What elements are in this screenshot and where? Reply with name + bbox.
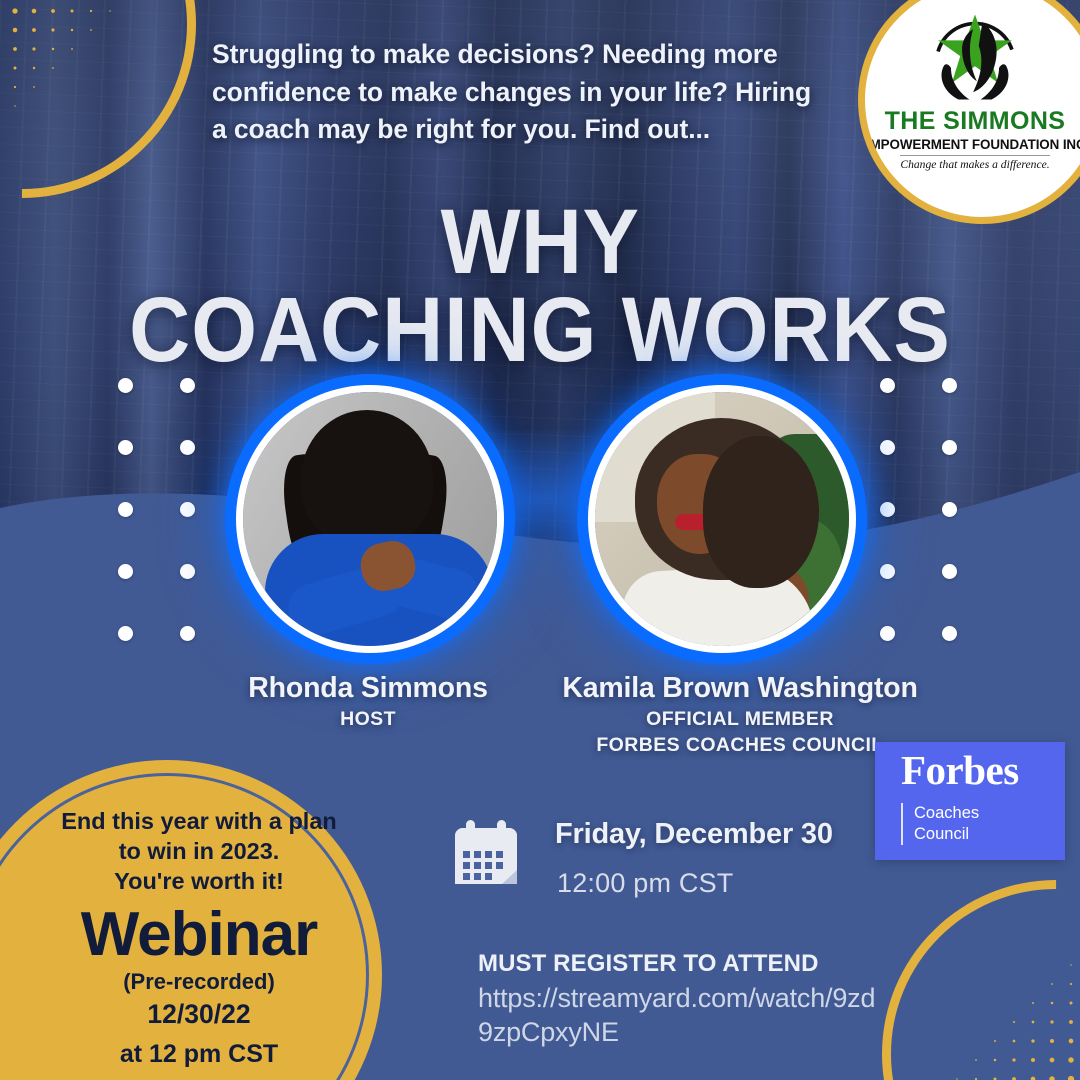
- page-title: WHY COACHING WORKS: [43, 198, 1037, 375]
- pitch-line-3: You're worth it!: [38, 866, 360, 896]
- webinar-circle-text: End this year with a plan to win in 2023…: [38, 806, 360, 1069]
- speaker-2-role-line-1: OFFICIAL MEMBER: [530, 708, 950, 731]
- webinar-format: (Pre-recorded): [38, 969, 360, 995]
- flyer-canvas: Struggling to make decisions? Needing mo…: [0, 0, 1080, 1080]
- title-line-1: WHY: [43, 198, 1037, 286]
- calendar-icon: [450, 818, 522, 890]
- logo-name-line-2: EMPOWERMENT FOUNDATION INC.: [861, 137, 1080, 152]
- forbes-wordmark: Forbes: [901, 750, 1065, 791]
- webinar-date-short: 12/30/22: [38, 999, 360, 1030]
- speaker-photo-kamila-brown-washington: [595, 392, 849, 646]
- pitch-line-2: to win in 2023.: [38, 836, 360, 866]
- speaker-block-1: Rhonda Simmons HOST: [190, 672, 546, 731]
- intro-paragraph: Struggling to make decisions? Needing mo…: [212, 36, 812, 149]
- event-date: Friday, December 30: [555, 818, 833, 851]
- webinar-time-short: at 12 pm CST: [38, 1040, 360, 1069]
- forbes-divider-rule: [901, 803, 903, 845]
- title-line-2: COACHING WORKS: [43, 286, 1037, 374]
- speaker-2-name: Kamila Brown Washington: [530, 672, 950, 705]
- registration-url[interactable]: https://streamyard.com/watch/9zd9zpCpxyN…: [478, 982, 878, 1050]
- logo-tagline: Change that makes a difference.: [900, 155, 1049, 171]
- forbes-sub-line-2: Council: [914, 824, 979, 845]
- forbes-sub-line-1: Coaches: [914, 803, 979, 824]
- pitch-line-1: End this year with a plan: [38, 806, 360, 836]
- event-time: 12:00 pm CST: [557, 868, 733, 899]
- speaker-photo-rhonda-simmons: [243, 392, 497, 646]
- webinar-heading: Webinar: [38, 902, 360, 967]
- registration-heading: MUST REGISTER TO ATTEND: [478, 950, 819, 978]
- forbes-coaches-council-badge: Forbes Coaches Council: [875, 742, 1065, 860]
- logo-name-line-1: THE SIMMONS: [885, 107, 1066, 136]
- speaker-1-role: HOST: [190, 708, 546, 731]
- speaker-1-name: Rhonda Simmons: [190, 672, 546, 705]
- star-hands-logo-icon: [919, 9, 1031, 105]
